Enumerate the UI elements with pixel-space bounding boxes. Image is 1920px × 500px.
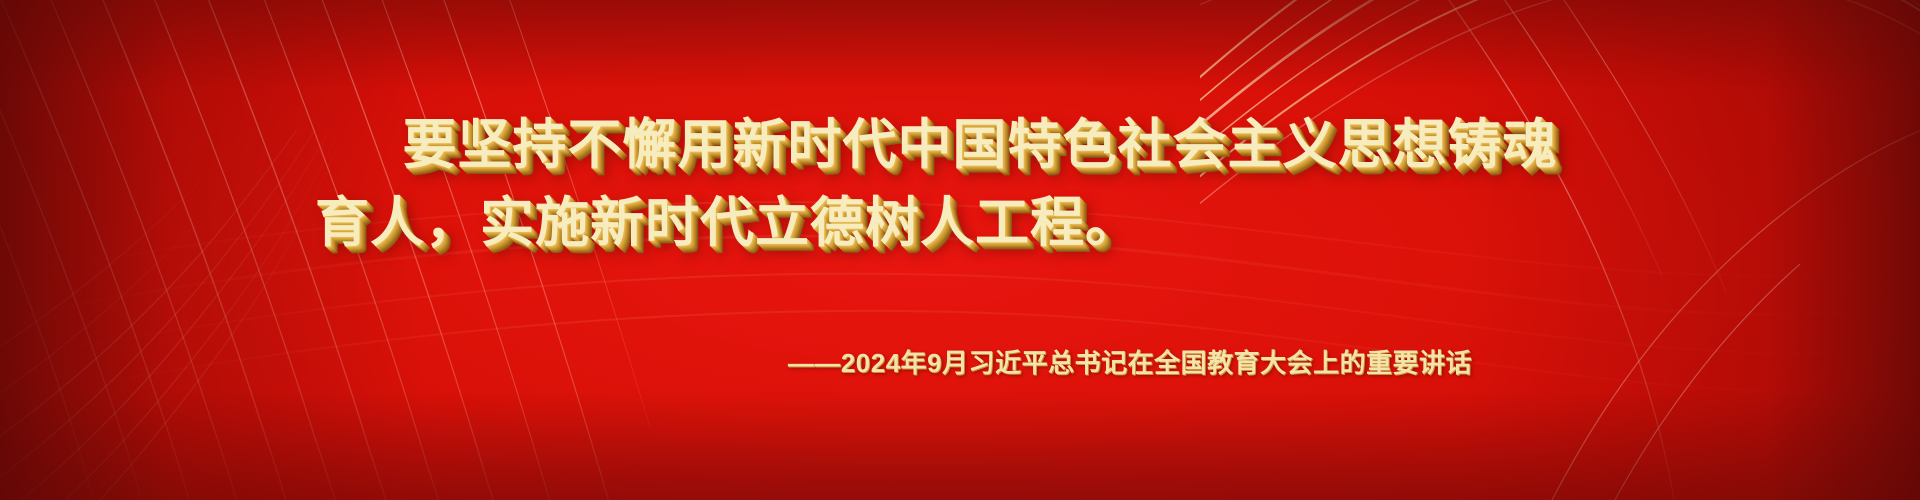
headline-line-2: 育人，实施新时代立德树人工程。 [0, 184, 1920, 262]
propaganda-banner: 要坚持不懈用新时代中国特色社会主义思想铸魂 育人，实施新时代立德树人工程。 ——… [0, 0, 1920, 500]
headline-block: 要坚持不懈用新时代中国特色社会主义思想铸魂 育人，实施新时代立德树人工程。 [0, 106, 1920, 262]
headline-line-1: 要坚持不懈用新时代中国特色社会主义思想铸魂 [0, 106, 1920, 184]
attribution-text: ——2024年9月习近平总书记在全国教育大会上的重要讲话 [788, 348, 1472, 378]
banner-content: 要坚持不懈用新时代中国特色社会主义思想铸魂 育人，实施新时代立德树人工程。 ——… [0, 0, 1920, 500]
attribution-block: ——2024年9月习近平总书记在全国教育大会上的重要讲话 [0, 343, 1920, 380]
